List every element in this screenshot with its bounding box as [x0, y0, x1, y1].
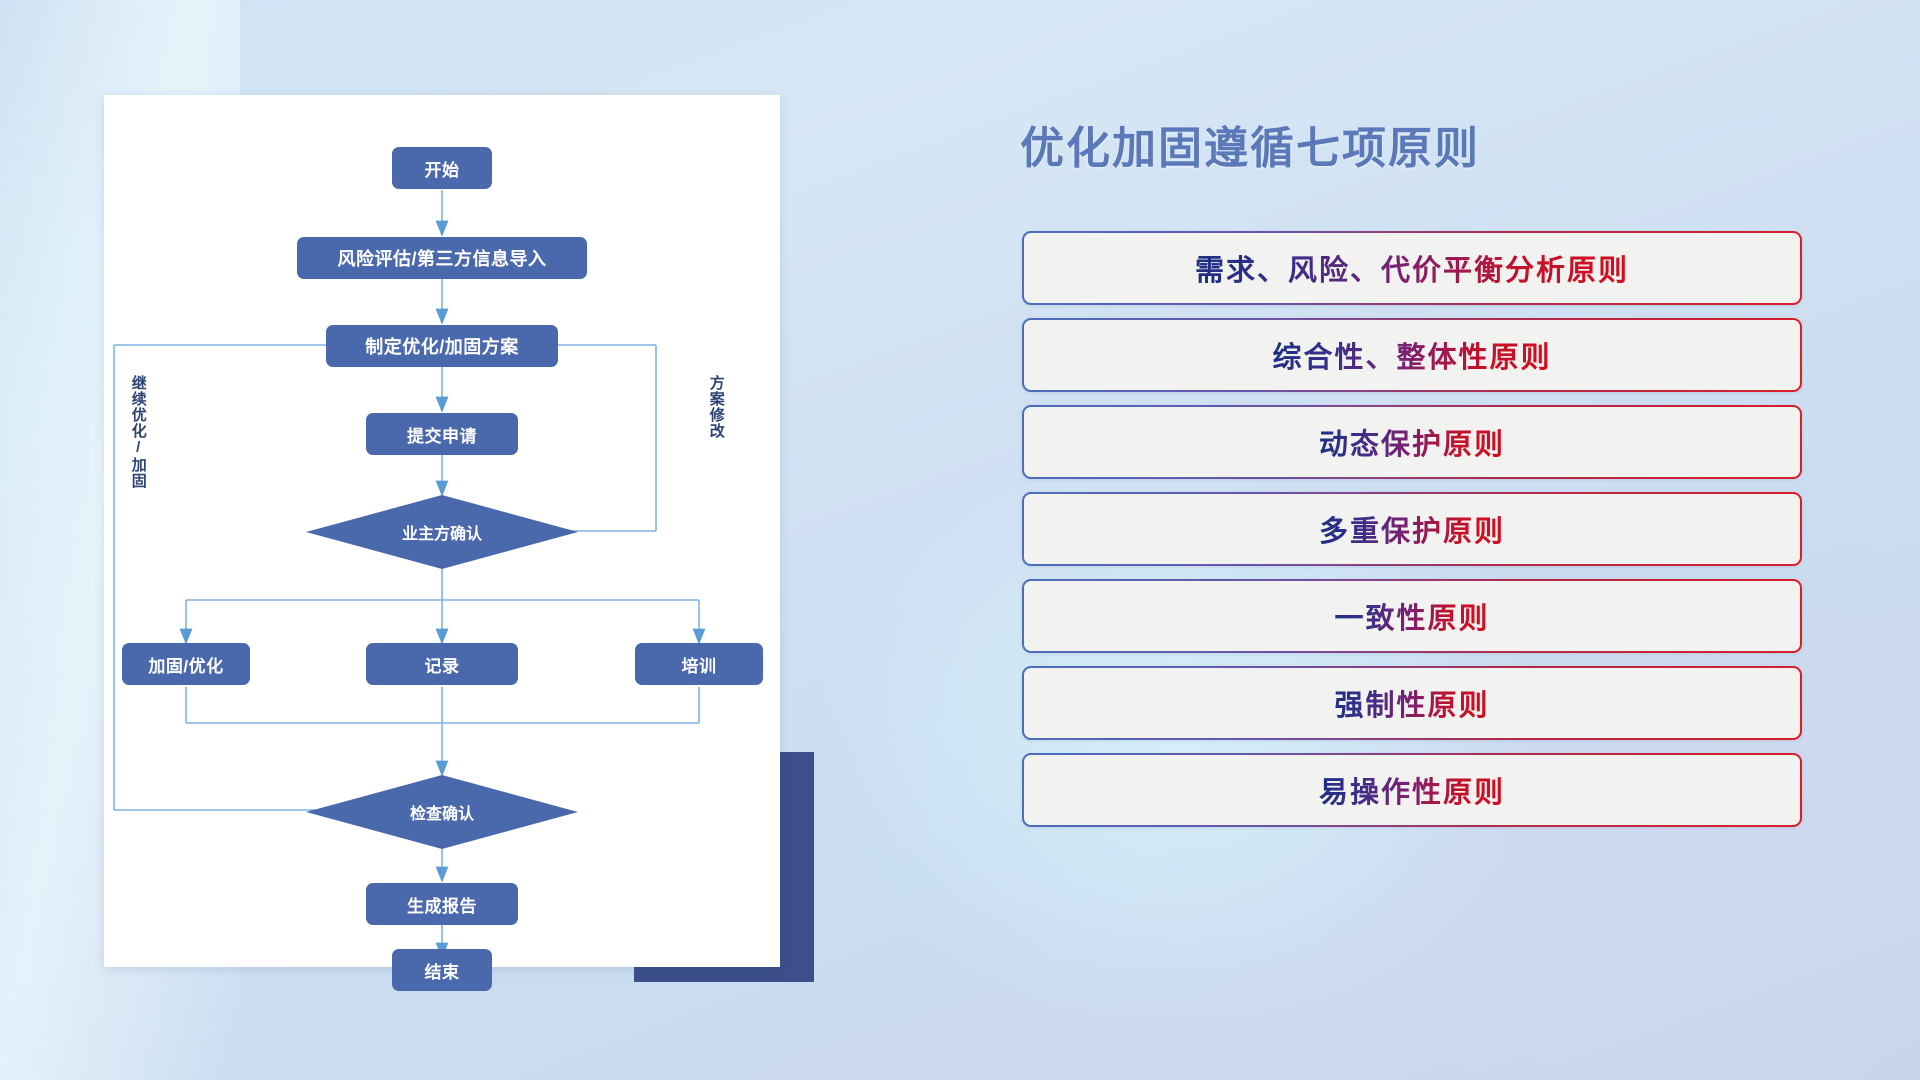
flow-node-generate-report[interactable]: 生成报告 [366, 883, 518, 925]
flow-node-label: 加固/优化 [148, 652, 223, 677]
flow-edge-label-left: 继续优化/加固 [130, 375, 146, 535]
flow-node-label: 结束 [425, 958, 460, 983]
principle-label: 需求、风险、代价平衡分析原则 [1195, 247, 1629, 289]
principle-item[interactable]: 动态保护原则 [1022, 405, 1802, 479]
principle-item[interactable]: 综合性、整体性原则 [1022, 318, 1802, 392]
principles-title: 优化加固遵循七项原则 [1020, 112, 1720, 176]
flow-node-start[interactable]: 开始 [392, 147, 492, 189]
flow-node-label: 培训 [682, 652, 717, 677]
flow-node-label: 检查确认 [410, 800, 474, 824]
flow-node-reinforce[interactable]: 加固/优化 [122, 643, 250, 685]
principle-item[interactable]: 一致性原则 [1022, 579, 1802, 653]
flow-edge-label-right: 方案修改 [708, 375, 724, 485]
slide-canvas: 开始 风险评估/第三方信息导入 制定优化/加固方案 提交申请 业主方确认 加固/… [0, 0, 1920, 1080]
flow-node-risk-assessment[interactable]: 风险评估/第三方信息导入 [297, 237, 587, 279]
principle-label: 动态保护原则 [1319, 421, 1505, 463]
principle-label: 多重保护原则 [1319, 508, 1505, 550]
principle-item[interactable]: 易操作性原则 [1022, 753, 1802, 827]
flow-node-submit-application[interactable]: 提交申请 [366, 413, 518, 455]
principle-item[interactable]: 需求、风险、代价平衡分析原则 [1022, 231, 1802, 305]
principle-label: 强制性原则 [1334, 682, 1489, 724]
principle-item[interactable]: 强制性原则 [1022, 666, 1802, 740]
principle-item[interactable]: 多重保护原则 [1022, 492, 1802, 566]
flowchart-card: 开始 风险评估/第三方信息导入 制定优化/加固方案 提交申请 业主方确认 加固/… [104, 95, 780, 967]
flow-node-label: 记录 [425, 652, 460, 677]
flow-node-label: 提交申请 [407, 422, 477, 447]
flow-node-plan[interactable]: 制定优化/加固方案 [326, 325, 558, 367]
flow-node-label: 开始 [425, 156, 460, 181]
flow-node-label: 生成报告 [407, 892, 477, 917]
flow-node-record[interactable]: 记录 [366, 643, 518, 685]
principles-list: 需求、风险、代价平衡分析原则 综合性、整体性原则 动态保护原则 多重保护原则 一… [1022, 231, 1802, 840]
flow-node-label: 制定优化/加固方案 [365, 333, 519, 359]
principle-label: 易操作性原则 [1319, 769, 1505, 811]
flow-node-label: 风险评估/第三方信息导入 [338, 245, 547, 271]
principle-label: 综合性、整体性原则 [1272, 334, 1551, 376]
flow-node-training[interactable]: 培训 [635, 643, 763, 685]
principle-label: 一致性原则 [1334, 595, 1489, 637]
flow-node-end[interactable]: 结束 [392, 949, 492, 991]
flow-node-label: 业主方确认 [402, 520, 482, 544]
